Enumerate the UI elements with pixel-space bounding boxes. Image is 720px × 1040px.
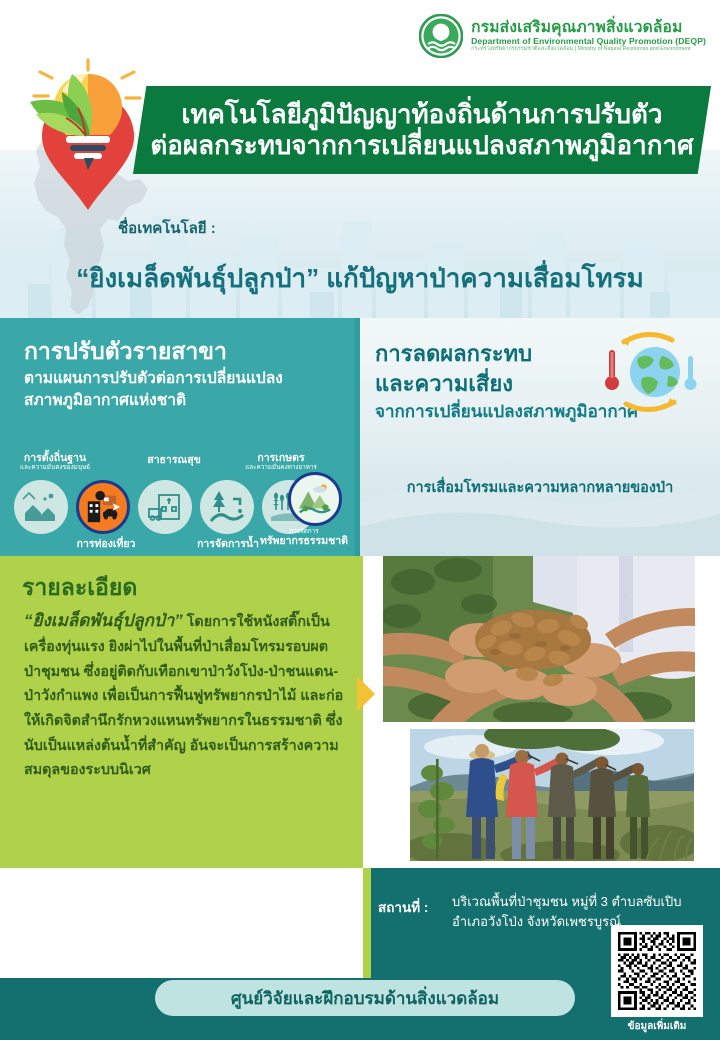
details-quote: “ยิงเมล็ดพันธุ์ปลูกป่า” <box>24 611 183 630</box>
qr-caption: ข้อมูลเพิ่มเติม <box>611 1019 703 1034</box>
sector-icon-settlement[interactable] <box>14 480 68 534</box>
location-accent-bar <box>363 868 371 978</box>
sector-label-natural-resources: การจัดการ ทรัพยากรธรรมชาติ <box>252 528 356 547</box>
hills-graphic <box>355 446 720 556</box>
adaptation-subtitle-line1: ตามแผนการปรับตัวต่อการเปลี่ยนแปลง <box>24 370 283 387</box>
sector-icon-tourism[interactable] <box>76 480 130 534</box>
globe-thermometer-cycle-icon <box>594 326 704 418</box>
adaptation-panel-subtitle: ตามแผนการปรับตัวต่อการเปลี่ยนแปลง สภาพภู… <box>24 368 344 413</box>
logo-ministry: กระทรวงทรัพยากรธรรมชาติและสิ่งแวดล้อม | … <box>471 47 706 53</box>
mitigation-title-line2: และความเสี่ยง <box>375 366 513 401</box>
thermometer-hot-icon <box>605 350 619 390</box>
river-faucet-icon <box>207 487 247 527</box>
mountain-forest-icon <box>296 480 334 518</box>
technology-name-label: ชื่อเทคโนโลยี : <box>118 216 216 240</box>
details-body: “ยิงเมล็ดพันธุ์ปลูกป่า” โดยการใช้หนังสติ… <box>24 606 344 783</box>
thermometer-cold-icon <box>685 356 697 390</box>
qr-code-icon <box>618 932 696 1010</box>
technology-name: “ยิงเมล็ดพันธุ์ปลูกป่า” แก้ปัญหาป่าความเ… <box>0 258 720 299</box>
location-line1: บริเวณพื้นที่ป่าชุมชน หมู่ที่ 3 ตำบลซับเ… <box>452 891 681 912</box>
sector-label-tourism: การท่องเที่ยว <box>56 538 156 550</box>
sector-icon-health[interactable] <box>138 480 192 534</box>
logo-text-block: กรมส่งเสริมคุณภาพสิ่งแวดล้อม Department … <box>471 20 706 53</box>
adaptation-panel-title: การปรับตัวรายสาขา <box>24 334 227 370</box>
main-title-ribbon: เทคโนโลยีภูมิปัญญาท้องถิ่นด้านการปรับตัว… <box>133 86 711 174</box>
footer-center-name: ศูนย์วิจัยและฝึกอบรมด้านสิ่งแวดล้อม <box>155 980 575 1016</box>
villagers-shooting-seeds-photo <box>410 729 694 861</box>
deqp-logo: กรมส่งเสริมคุณภาพสิ่งแวดล้อม Department … <box>419 14 706 58</box>
mitigation-caption: การเสื่อมโทรมและความหลากหลายของป่า <box>375 476 705 499</box>
sector-label-agriculture: การเกษตร และความมั่นคงทางอาหาร <box>224 452 338 471</box>
details-text: โดยการใช้หนังสติ๊กเป็นเครื่องทุ่นแรง ยิง… <box>24 614 343 778</box>
seed-shooting-illustration <box>410 729 694 861</box>
main-title: เทคโนโลยีภูมิปัญญาท้องถิ่นด้านการปรับตัว… <box>133 86 711 174</box>
village-houses-icon <box>21 487 61 527</box>
logo-org-en: Department of Environmental Quality Prom… <box>471 37 706 46</box>
adaptation-subtitle-line2: สภาพภูมิอากาศแห่งชาติ <box>24 392 186 409</box>
details-heading: รายละเอียด <box>22 570 137 606</box>
sector-icon-water[interactable] <box>200 480 254 534</box>
deqp-tree-water-logo-icon <box>419 14 463 58</box>
hands-holding-seeds-photo <box>383 556 695 722</box>
location-label: สถานที่ : <box>378 896 428 918</box>
location-line2: อำเภอวังโป่ง จังหวัดเพชรบูรณ์ <box>452 911 621 932</box>
hands-seeds-illustration <box>383 556 695 722</box>
main-title-line1: เทคโนโลยีภูมิปัญญาท้องถิ่นด้านการปรับตัว <box>182 99 663 130</box>
hospital-ambulance-icon <box>145 487 185 527</box>
sector-label-health: สาธารณสุข <box>128 454 220 466</box>
sector-icon-row: การตั้งถิ่นฐาน และความมั่นคงของมนุษย์ สา… <box>0 450 355 556</box>
tourism-city-bus-icon <box>84 488 122 526</box>
sector-label-settlement: การตั้งถิ่นฐาน และความมั่นคงของมนุษย์ <box>2 452 108 471</box>
qr-code[interactable] <box>611 925 703 1017</box>
sector-icon-natural-resources[interactable] <box>288 472 342 526</box>
panel-divider <box>355 318 360 556</box>
main-title-line2: ต่อผลกระทบจากการเปลี่ยนแปลงสภาพภูมิอากาศ <box>150 130 693 161</box>
logo-org-th: กรมส่งเสริมคุณภาพสิ่งแวดล้อม <box>471 20 706 36</box>
poster-root: เทคโนโลยีภูมิปัญญาท้องถิ่นด้านการปรับตัว… <box>0 0 720 1040</box>
